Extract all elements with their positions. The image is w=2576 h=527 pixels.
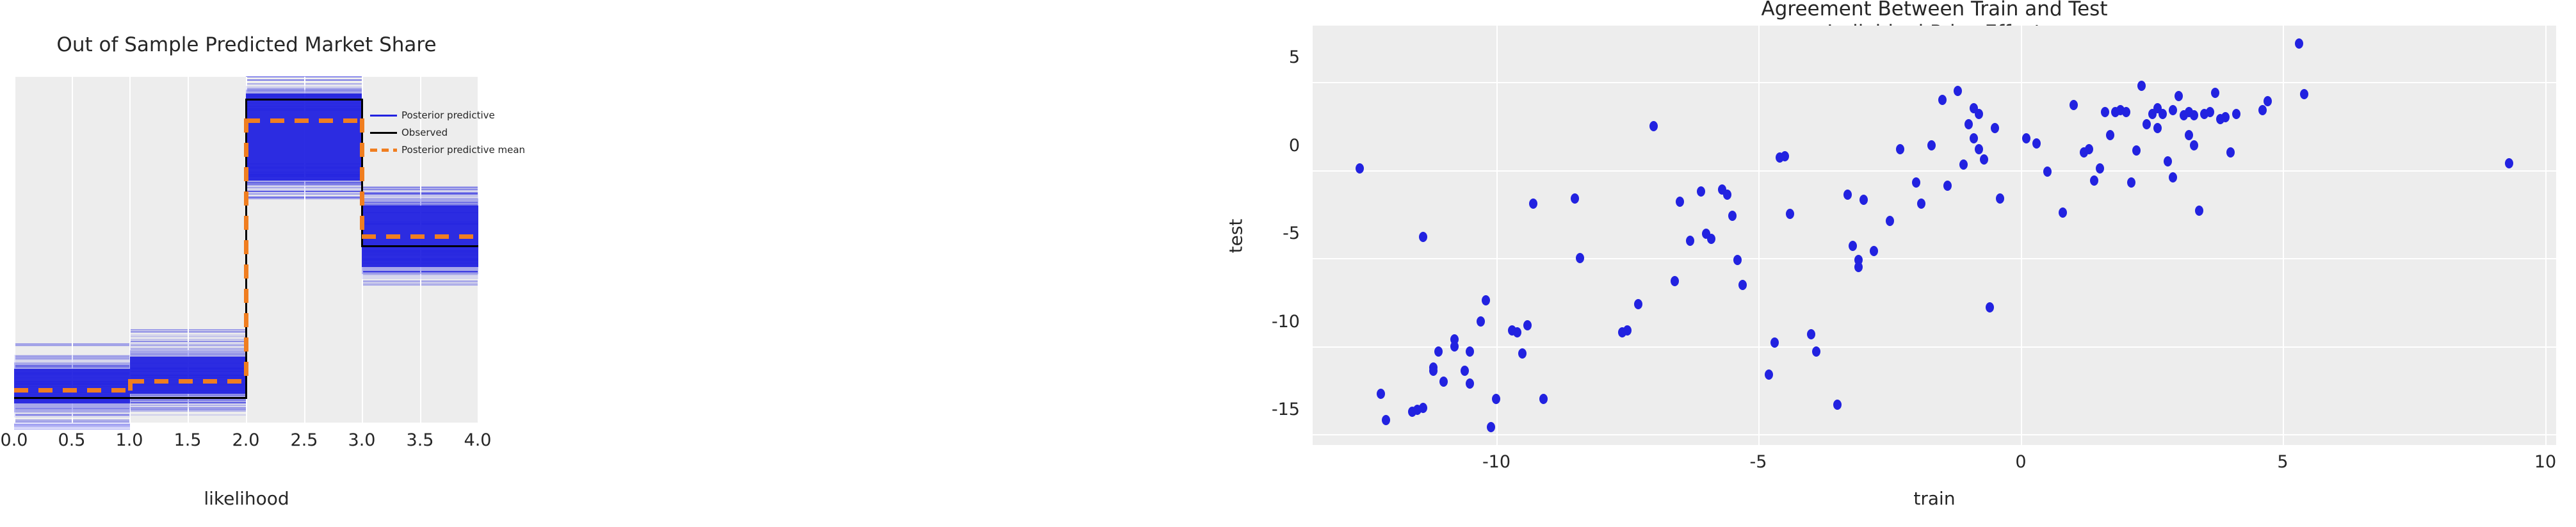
scatter-point: [1523, 320, 1532, 330]
scatter-point: [1854, 262, 1863, 272]
scatter-point: [2221, 112, 2230, 122]
gridline-x--10: [1496, 26, 1498, 445]
legend-item-posterior-predictive: Posterior predictive: [370, 109, 489, 121]
scatter-point: [1707, 234, 1715, 244]
scatter-point: [2090, 175, 2098, 186]
scatter-point: [1634, 299, 1642, 309]
scatter-point: [2300, 89, 2308, 99]
right-yaxis-label: test: [1226, 172, 1247, 300]
scatter-point: [1429, 366, 1438, 376]
legend: Posterior predictive Observed Posterior …: [370, 107, 489, 158]
scatter-point: [2143, 119, 2151, 129]
scatter-point: [2190, 140, 2198, 150]
observed-line: [362, 245, 478, 247]
scatter-point: [1781, 151, 1789, 161]
gridline-y--5: [1313, 258, 2556, 259]
scatter-point: [2264, 96, 2272, 106]
scatter-point: [1980, 154, 1988, 165]
legend-label: Observed: [401, 127, 448, 138]
scatter-point: [1671, 276, 1679, 286]
scatter-point: [1623, 325, 1632, 336]
scatter-point: [1466, 346, 1474, 357]
scatter-point: [1728, 211, 1737, 221]
scatter-point: [2232, 109, 2240, 119]
legend-item-posterior-predictive-mean: Posterior predictive mean: [370, 144, 489, 156]
scatter-point: [1927, 140, 1936, 150]
scatter-point: [1377, 389, 1385, 399]
scatter-point: [1649, 121, 1658, 131]
scatter-point: [1986, 302, 1994, 312]
posterior-predictive-mean-riser: [244, 118, 248, 381]
gridline-x--5: [1758, 26, 1760, 445]
scatter-point: [2070, 100, 2078, 110]
scatter-point: [2043, 166, 2052, 177]
scatter-point: [1571, 193, 1579, 204]
legend-item-observed: Observed: [370, 127, 489, 138]
scatter-point: [1487, 422, 1495, 432]
scatter-point: [1382, 415, 1390, 425]
scatter-point: [1833, 400, 1842, 410]
legend-label: Posterior predictive mean: [401, 144, 525, 156]
scatter-point: [1356, 163, 1364, 174]
scatter-point: [1975, 109, 1983, 119]
left-plot-axes: Posterior predictive Observed Posterior …: [14, 77, 479, 423]
scatter-point: [1461, 366, 1469, 376]
ytick-label: 5: [1242, 47, 1300, 67]
scatter-point: [2059, 207, 2067, 218]
scatter-point: [1770, 337, 1779, 348]
scatter-point: [2127, 177, 2135, 188]
posterior-predictive-mean-line: [130, 379, 246, 384]
scatter-point: [2185, 130, 2193, 140]
observed-line: [130, 397, 247, 399]
posterior-predictive-mean-riser: [360, 118, 364, 237]
scatter-point: [1912, 177, 1920, 188]
scatter-point: [1576, 253, 1584, 263]
figure-canvas: Out of Sample Predicted Market Share: [0, 0, 2576, 527]
scatter-point: [2226, 147, 2235, 158]
scatter-point: [2022, 133, 2030, 143]
scatter-point: [1419, 403, 1427, 413]
ytick-label: -15: [1242, 400, 1300, 419]
scatter-point: [2206, 107, 2214, 117]
scatter-point: [2190, 110, 2198, 120]
legend-key-observed: [370, 128, 397, 137]
gridline-x-0: [2021, 26, 2022, 445]
scatter-point: [1513, 327, 1521, 337]
scatter-point: [1870, 246, 1878, 256]
legend-key-posterior-predictive: [370, 111, 397, 120]
scatter-point: [2106, 130, 2114, 140]
xtick-label: 0: [1989, 452, 2053, 472]
scatter-point: [1676, 197, 1684, 207]
xtick-label: -10: [1464, 452, 1528, 472]
scatter-point: [1529, 199, 1537, 209]
gridline-x-5: [2283, 26, 2284, 445]
scatter-point: [1849, 241, 1857, 251]
right-xaxis-label: train: [1313, 488, 2556, 509]
ytick-label: 0: [1242, 136, 1300, 156]
scatter-point: [2175, 91, 2183, 101]
left-xaxis-label: likelihood: [14, 488, 479, 509]
scatter-point: [1886, 216, 1894, 226]
scatter-point: [1492, 394, 1500, 404]
xtick-label: 10: [2513, 452, 2576, 472]
ytick-label: -5: [1242, 223, 1300, 243]
scatter-point: [2505, 158, 2513, 168]
scatter-point: [2164, 156, 2172, 166]
xtick-label: 1.5: [156, 430, 220, 450]
scatter-point: [1996, 193, 2004, 204]
scatter-point: [2211, 88, 2219, 98]
xtick-label: 4.0: [446, 430, 510, 450]
scatter-point: [1970, 133, 1978, 143]
scatter-point: [1450, 341, 1459, 352]
scatter-point: [1738, 280, 1747, 290]
right-plot-axes: [1313, 26, 2556, 445]
scatter-point: [1975, 144, 1983, 154]
xtick-label: 3.0: [330, 430, 394, 450]
gridline-y--10: [1313, 346, 2556, 348]
xtick-label: 0.5: [40, 430, 104, 450]
observed-line: [246, 99, 362, 101]
legend-label: Posterior predictive: [401, 109, 495, 121]
gridline-y--15: [1313, 434, 2556, 435]
scatter-point: [2032, 138, 2041, 149]
posterior-predictive-mean-line: [14, 388, 130, 393]
posterior-predictive-band: [246, 93, 362, 181]
posterior-predictive-mean-line: [246, 118, 362, 123]
xtick-label: 3.5: [388, 430, 452, 450]
scatter-point: [1482, 295, 1490, 305]
gridline-y-5: [1313, 82, 2556, 83]
xtick-label: 2.5: [272, 430, 336, 450]
gridline-y-0: [1313, 170, 2556, 172]
posterior-predictive-sample: [14, 428, 130, 430]
scatter-point: [1938, 95, 1947, 105]
scatter-point: [2258, 105, 2267, 115]
scatter-point: [2169, 105, 2177, 115]
posterior-predictive-mean-riser: [128, 379, 133, 391]
scatter-point: [1991, 123, 1999, 133]
scatter-point: [1765, 369, 1773, 380]
scatter-point: [1439, 377, 1448, 387]
scatter-point: [1959, 159, 1968, 170]
scatter-point: [1434, 346, 1443, 357]
scatter-point: [1723, 190, 1731, 200]
scatter-point: [1954, 86, 1962, 96]
scatter-point: [2153, 123, 2162, 133]
scatter-point: [2085, 144, 2093, 154]
scatter-point: [2101, 107, 2109, 117]
xtick-label: 1.0: [97, 430, 161, 450]
scatter-point: [1477, 316, 1485, 327]
scatter-point: [1518, 348, 1527, 359]
scatter-point: [2295, 38, 2303, 49]
scatter-point: [2137, 81, 2146, 91]
xtick-label: 5: [2251, 452, 2315, 472]
observed-line: [14, 397, 130, 399]
xtick-label: -5: [1726, 452, 1790, 472]
scatter-point: [1539, 394, 1548, 404]
scatter-point: [1943, 181, 1952, 191]
ytick-label: -10: [1242, 312, 1300, 332]
scatter-point: [2159, 109, 2167, 119]
scatter-point: [1859, 195, 1868, 205]
scatter-point: [1733, 255, 1742, 265]
scatter-point: [1896, 144, 1904, 154]
scatter-point: [1697, 186, 1705, 197]
scatter-point: [1686, 236, 1694, 246]
xtick-label: 2.0: [214, 430, 278, 450]
posterior-predictive-sample: [14, 425, 130, 426]
scatter-point: [1786, 209, 1794, 219]
scatter-point: [1807, 329, 1815, 339]
scatter-point: [1843, 190, 1852, 200]
scatter-point: [1466, 378, 1474, 389]
scatter-point: [1812, 346, 1820, 357]
gridline-x-10: [2545, 26, 2547, 445]
legend-key-posterior-predictive-mean: [370, 145, 397, 154]
left-panel-title: Out of Sample Predicted Market Share: [14, 33, 479, 57]
scatter-point: [2122, 107, 2130, 117]
scatter-point: [2195, 206, 2203, 216]
scatter-point: [1964, 119, 1973, 129]
scatter-point: [1419, 232, 1427, 242]
posterior-predictive-band: [130, 357, 246, 394]
posterior-predictive-mean-line: [362, 234, 478, 239]
scatter-point: [2169, 172, 2177, 182]
scatter-point: [2132, 145, 2141, 156]
scatter-point: [2096, 163, 2104, 174]
scatter-point: [1917, 199, 1925, 209]
